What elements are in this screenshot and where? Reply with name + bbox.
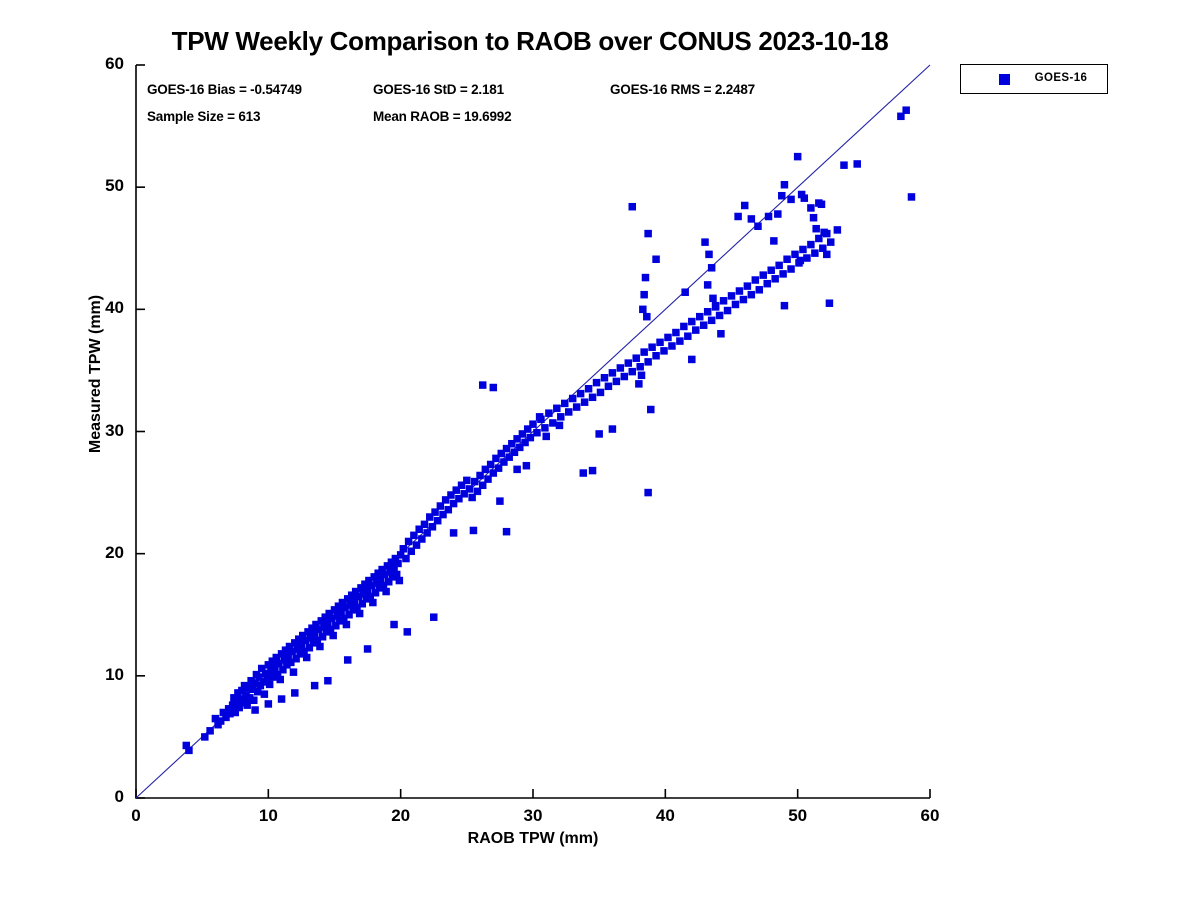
- data-point: [647, 406, 655, 414]
- data-point: [648, 343, 656, 351]
- data-point: [681, 288, 689, 296]
- data-point: [250, 697, 258, 705]
- x-tick-label-30: 30: [510, 806, 556, 826]
- data-point: [797, 257, 805, 265]
- data-point: [705, 251, 713, 259]
- data-point: [818, 201, 826, 209]
- data-point: [640, 291, 648, 299]
- data-point: [430, 613, 438, 621]
- data-point: [688, 356, 696, 364]
- data-point: [664, 334, 672, 342]
- data-point: [826, 299, 834, 307]
- data-point: [801, 194, 809, 202]
- data-point: [799, 246, 807, 254]
- x-tick-label-10: 10: [245, 806, 291, 826]
- legend-label-goes16: GOES-16: [1021, 72, 1101, 84]
- data-point: [585, 385, 593, 393]
- data-point: [708, 317, 716, 325]
- data-point: [527, 434, 535, 442]
- data-point: [632, 354, 640, 362]
- data-point: [787, 265, 795, 273]
- data-point: [635, 380, 643, 388]
- data-point: [748, 291, 756, 299]
- data-point: [701, 238, 709, 246]
- data-point: [356, 610, 364, 618]
- data-point: [781, 302, 789, 310]
- data-point: [765, 213, 773, 221]
- y-tick-label-40: 40: [78, 298, 124, 318]
- data-point: [767, 266, 775, 274]
- data-point: [644, 358, 652, 366]
- data-point: [728, 292, 736, 300]
- data-point: [779, 270, 787, 278]
- data-point: [716, 312, 724, 320]
- data-point: [556, 422, 564, 430]
- data-point: [593, 379, 601, 387]
- data-point: [638, 372, 646, 380]
- data-point: [617, 364, 625, 372]
- data-point: [696, 313, 704, 321]
- data-point: [479, 381, 487, 389]
- data-point: [324, 677, 332, 685]
- data-point: [908, 193, 916, 201]
- data-point: [542, 433, 550, 441]
- chart-figure: TPW Weekly Comparison to RAOB over CONUS…: [0, 0, 1200, 900]
- data-point: [732, 301, 740, 309]
- data-point: [394, 560, 402, 568]
- data-point: [265, 700, 273, 708]
- data-point: [581, 398, 589, 406]
- y-tick-label-50: 50: [78, 176, 124, 196]
- data-point: [756, 286, 764, 294]
- data-point: [545, 409, 553, 417]
- data-point: [573, 403, 581, 411]
- data-point: [529, 420, 537, 428]
- y-tick-label-0: 0: [78, 787, 124, 807]
- data-point: [629, 368, 637, 376]
- data-point: [680, 323, 688, 331]
- data-point: [364, 645, 372, 653]
- data-point: [613, 378, 621, 386]
- data-point: [580, 469, 588, 477]
- data-point: [652, 255, 660, 263]
- data-point: [704, 281, 712, 289]
- data-point: [605, 383, 613, 391]
- data-point: [704, 308, 712, 316]
- x-tick-label-0: 0: [113, 806, 159, 826]
- data-point: [557, 413, 565, 421]
- data-point: [261, 690, 269, 698]
- data-point: [787, 196, 795, 204]
- data-point: [344, 656, 352, 664]
- data-point: [463, 477, 471, 485]
- data-point: [553, 405, 561, 413]
- data-point: [823, 251, 831, 259]
- data-point: [760, 271, 768, 279]
- data-point: [812, 225, 820, 233]
- data-point: [541, 424, 549, 432]
- data-point: [185, 747, 193, 755]
- data-point: [621, 373, 629, 381]
- data-point: [589, 467, 597, 475]
- data-point: [421, 521, 429, 529]
- data-point: [807, 204, 815, 212]
- data-point: [644, 489, 652, 497]
- data-point: [783, 255, 791, 263]
- data-point: [311, 682, 319, 690]
- data-point: [774, 210, 782, 218]
- data-point: [490, 384, 498, 392]
- data-point: [712, 302, 720, 310]
- y-tick-label-20: 20: [78, 543, 124, 563]
- data-point: [450, 529, 458, 537]
- data-point: [595, 430, 603, 438]
- data-point: [569, 395, 577, 403]
- data-point: [533, 429, 541, 437]
- data-point: [771, 275, 779, 283]
- data-point: [329, 632, 337, 640]
- data-point: [709, 295, 717, 303]
- data-point: [656, 339, 664, 347]
- data-point: [513, 466, 521, 474]
- data-point: [770, 237, 778, 245]
- data-points-goes16: [183, 106, 916, 754]
- data-point: [549, 419, 557, 427]
- data-point: [523, 462, 531, 470]
- data-point: [278, 695, 286, 703]
- x-tick-label-60: 60: [907, 806, 953, 826]
- y-tick-label-10: 10: [78, 665, 124, 685]
- scatter-plot-canvas: [0, 0, 1200, 900]
- data-point: [643, 313, 651, 321]
- data-point: [369, 599, 377, 607]
- data-point: [561, 400, 569, 408]
- data-point: [266, 681, 274, 689]
- data-point: [775, 262, 783, 270]
- data-point: [736, 287, 744, 295]
- y-tick-label-60: 60: [78, 54, 124, 74]
- data-point: [781, 181, 789, 189]
- data-point: [206, 727, 214, 735]
- data-point: [609, 369, 617, 377]
- y-tick-label-30: 30: [78, 421, 124, 441]
- data-point: [834, 226, 842, 234]
- data-point: [840, 161, 848, 169]
- x-tick-label-20: 20: [378, 806, 424, 826]
- data-point: [748, 215, 756, 223]
- data-point: [752, 276, 760, 284]
- data-point: [902, 106, 910, 114]
- data-point: [741, 202, 749, 210]
- data-point: [744, 282, 752, 290]
- data-point: [652, 352, 660, 360]
- data-point: [668, 342, 676, 350]
- data-point: [503, 528, 511, 536]
- data-point: [400, 545, 408, 553]
- data-point: [754, 223, 762, 231]
- data-point: [811, 249, 819, 256]
- x-tick-label-40: 40: [642, 806, 688, 826]
- data-point: [589, 394, 597, 402]
- data-point: [740, 296, 748, 304]
- data-point: [827, 238, 835, 246]
- data-point: [382, 588, 390, 596]
- data-point: [404, 628, 412, 636]
- data-point: [597, 389, 605, 397]
- data-point: [688, 318, 696, 326]
- data-point: [853, 160, 861, 168]
- data-point: [644, 230, 652, 238]
- data-point: [290, 668, 298, 676]
- data-point: [316, 643, 324, 651]
- data-point: [640, 348, 648, 356]
- data-point: [243, 701, 251, 709]
- data-point: [724, 307, 732, 315]
- data-point: [609, 425, 617, 433]
- data-point: [642, 274, 650, 282]
- data-point: [577, 390, 585, 398]
- data-point: [402, 555, 410, 563]
- data-point: [625, 359, 633, 367]
- data-point: [636, 363, 644, 371]
- data-point: [601, 374, 609, 382]
- data-point: [251, 706, 259, 714]
- data-point: [639, 306, 647, 314]
- x-axis-label: RAOB TPW (mm): [136, 830, 930, 848]
- data-point: [676, 337, 684, 345]
- data-point: [810, 214, 818, 222]
- data-point: [708, 264, 716, 272]
- data-point: [396, 577, 404, 585]
- data-point: [276, 676, 284, 684]
- data-point: [390, 621, 398, 629]
- data-point: [536, 413, 544, 421]
- data-point: [763, 280, 771, 288]
- data-point: [684, 332, 692, 340]
- legend[interactable]: GOES-16: [960, 64, 1108, 94]
- data-point: [717, 330, 725, 338]
- data-point: [692, 326, 700, 334]
- data-point: [700, 321, 708, 329]
- data-point: [343, 621, 351, 629]
- data-point: [470, 527, 478, 535]
- legend-swatch-goes16: [999, 74, 1010, 85]
- data-point: [720, 297, 728, 305]
- data-point: [496, 497, 504, 505]
- data-point: [565, 408, 573, 416]
- data-point: [660, 347, 668, 355]
- data-point: [291, 689, 299, 697]
- data-point: [466, 485, 474, 493]
- data-point: [803, 254, 811, 261]
- data-point: [303, 654, 311, 662]
- data-point: [807, 241, 815, 249]
- data-point: [672, 329, 680, 337]
- data-point: [734, 213, 742, 221]
- y-axis-label: Measured TPW (mm): [87, 264, 105, 484]
- data-point: [794, 153, 802, 161]
- data-point: [778, 192, 786, 200]
- data-point: [820, 229, 828, 237]
- data-point: [629, 203, 637, 211]
- x-tick-label-50: 50: [775, 806, 821, 826]
